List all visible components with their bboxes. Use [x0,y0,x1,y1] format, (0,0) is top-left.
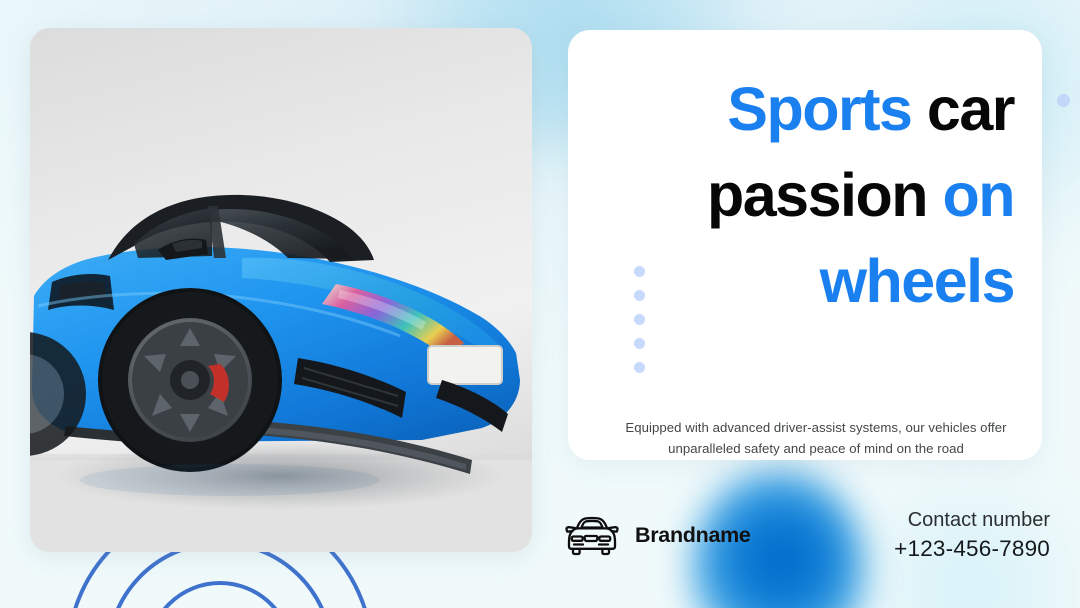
dot-column-decoration [634,266,645,373]
body-copy: Equipped with advanced driver-assist sys… [618,417,1014,459]
headline-line-1: Sports car [594,66,1014,152]
car-photo-card [30,28,532,552]
car-front-icon [560,513,622,557]
headline-line-3: wheels [594,238,1014,324]
page-title: Sports car passion on wheels [594,66,1014,324]
contact-label: Contact number [894,506,1050,534]
decor-dot [634,362,645,373]
edge-accent-dot [1057,94,1070,107]
poster-canvas: Sports car passion on wheels Equipped wi… [0,0,1080,608]
decor-dot [634,314,645,325]
contact-block[interactable]: Contact number +123-456-7890 [894,506,1050,564]
contact-number[interactable]: +123-456-7890 [894,534,1050,564]
headline-word-wheels: wheels [820,247,1014,315]
headline-line-2: passion on [594,152,1014,238]
decor-dot [634,266,645,277]
decor-dot [634,290,645,301]
headline-word-sports: Sports [727,75,911,143]
headline-card: Sports car passion on wheels Equipped wi… [568,30,1042,460]
headline-word-on: on [942,161,1014,229]
headline-word-passion: passion [707,161,927,229]
brand-lockup[interactable]: Brandname [560,513,751,557]
brand-name: Brandname [635,523,751,548]
decor-dot [634,338,645,349]
headline-word-car: car [927,75,1014,143]
